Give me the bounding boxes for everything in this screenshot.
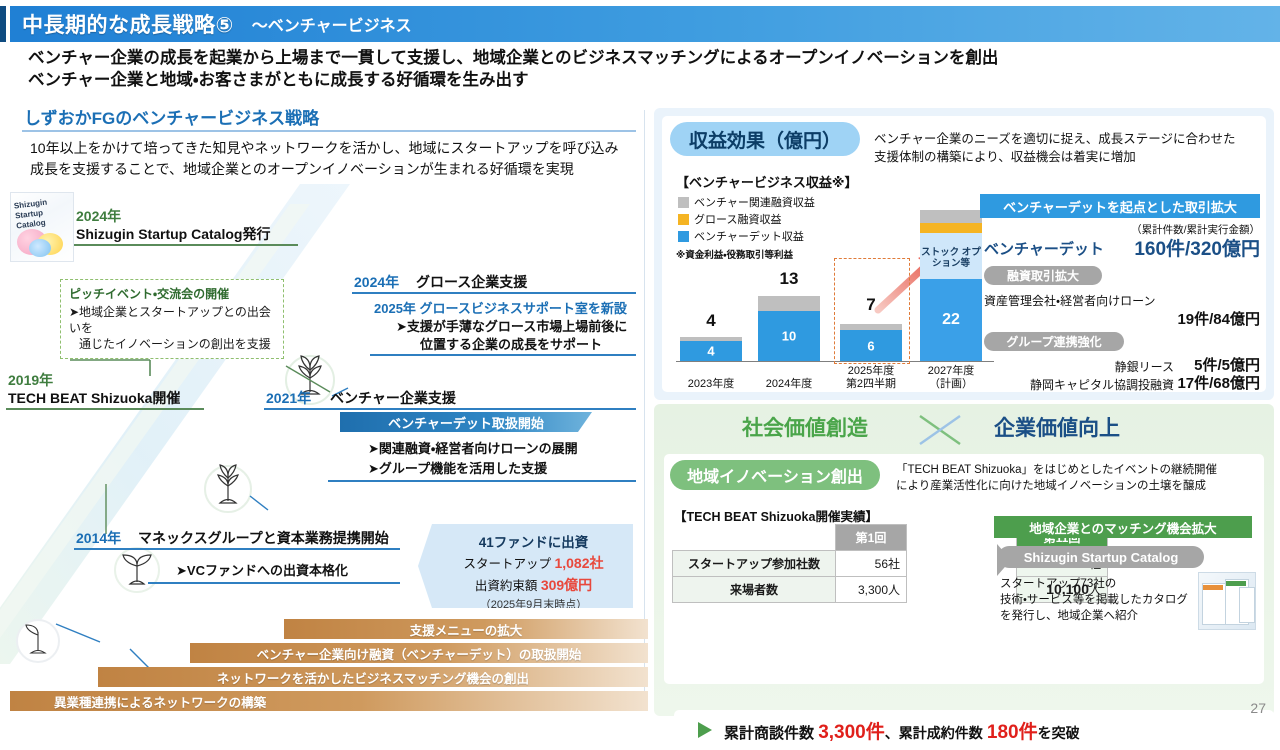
catalog-page-2-header [1226,581,1246,586]
bar-total-0: 4 [680,311,742,331]
fund-callout-row-1-value: 1,082社 [554,555,603,571]
regional-innovation-pill: 地域イノベーション創出 [670,460,880,490]
event-rule-growth [352,292,636,294]
chart-xlabel-2-line-2: 第2四半期 [840,378,902,391]
venture-debt-banner: ベンチャーデット取扱開始 [340,412,592,432]
right-column: 収益効果（億円） ベンチャー企業のニーズを適切に捉え、成長ステージに合わせた 支… [648,104,1280,720]
timeline-event-year-2019: 2019年 [8,370,53,390]
bar-seg-debt-value-0: 4 [680,344,742,359]
corporate-value-title: 企業価値向上 [994,412,1120,442]
techbeat-table-first: 第1回 スタートアップ参加社数 56社 来場者数 3,300人 [672,524,992,603]
startup-catalog-description: スタートアップ73社の 技術・サービス等を掲載したカタログ を発行し、地域企業へ… [1000,576,1196,624]
innovation-note: 「TECH BEAT Shizuoka」をはじめとしたイベントの継続開催 により… [896,462,1256,494]
revenue-effect-pill: 収益効果（億円） [670,122,860,156]
group-row-1-value: 17件/68億円 [1148,372,1260,393]
innovation-note-line-1: 「TECH BEAT Shizuoka」をはじめとしたイベントの継続開催 [896,462,1256,478]
fund-callout-row-2-label: 出資約束額 [475,579,538,593]
fund-callout-row-2: 出資約束額 309億円 [434,575,633,595]
social-value-panel-inner: 地域イノベーション創出 「TECH BEAT Shizuoka」をはじめとしたイ… [664,454,1264,684]
startup-catalog-thumbnail: Shizugin Startup Catalog [10,192,74,262]
techbeat-row-1-name: 来場者数 [673,577,836,603]
bar-seg-stock-option-3: ストック オプション等 [920,233,982,279]
page-subtitle: ～ベンチャービジネス [252,12,412,36]
startup-catalog-pill: Shizugin Startup Catalog [998,546,1204,568]
techbeat-row-0-name: スタートアップ参加社数 [673,551,836,577]
stair-item-2: ベンチャー企業向け融資（ベンチャーデット）の取扱開始 [190,643,648,663]
bar-seg-debt-3: 22 [920,279,982,361]
loan-label: 資産管理会社・経営者向けローン [984,292,1155,309]
social-value-creation-title: 社会価値創造 [742,412,868,442]
stair-item-1: 支援メニューの拡大 [284,619,648,639]
bar-seg-debt-value-1: 10 [758,329,820,344]
event-rule-catalog [74,244,298,246]
techbeat-row-1-first: 3,300人 [836,577,907,603]
triangle-bullet-icon [698,722,712,738]
chart-xlabel-2: 2025年度 第2四半期 [840,365,902,391]
revenue-note-line-2: 支援体制の構築により、収益機会は着実に増加 [874,148,1254,166]
chart-xlabel-0: 2023年度 [680,378,742,391]
fund-callout-row-1-label: スタートアップ [463,557,551,571]
chart-xlabel-3-line-2: （計画） [920,378,982,391]
bar-seg-related-3 [920,210,982,223]
bar-seg-debt-value-2: 6 [840,338,902,353]
chart-xlabel-1: 2024年度 [758,378,820,391]
group-collaboration-pill: グループ連携強化 [984,332,1124,351]
loan-expansion-pill: 融資取引拡大 [984,266,1102,285]
chart-xlabel-2-line-1: 2025年度 [840,365,902,378]
catalog-desc-line-3: を発行し、地域企業へ紹介 [1000,608,1196,624]
header-accent-bar-white [6,6,10,42]
pitch-event-line-1: ➤地域企業とスタートアップとの出会いを [69,304,275,336]
cumulative-mid: 、累計成約件数 [885,725,983,741]
bar-total-1: 13 [758,269,820,289]
cumulative-contracts-value: 180件 [987,722,1038,743]
timeline-event-year-2024-growth: 2024年 [354,272,399,292]
growth-support-line-1: ➤支援が手薄なグロース市場上場前後に [396,316,627,335]
venture-debt-label: ベンチャーデット [984,238,1104,259]
bar-seg-debt-0: 4 [680,341,742,361]
growth-support-line-2: 位置する企業の成長をサポート [420,334,602,353]
slide-header: 中長期的な成長戦略⑤ ～ベンチャービジネス [0,6,1280,42]
bar-stack-1: 10 [758,296,820,361]
revenue-panel-inner: 収益効果（億円） ベンチャー企業のニーズを適切に捉え、成長ステージに合わせた 支… [662,116,1266,392]
techbeat-col1-header: 第1回 [836,525,907,551]
bar-stack-0: 4 [680,337,742,361]
pitch-event-box: ピッチイベント・交流会の開催 ➤地域企業とスタートアップとの出会いを 通じたイノ… [60,279,284,359]
stock-option-label-text: ストック オプション等 [921,247,981,269]
bar-seg-related-1 [758,296,820,311]
timeline-event-title-2019: TECH BEAT Shizuoka開催 [8,388,180,408]
catalog-desc-line-1: スタートアップ73社の [1000,576,1196,592]
chart-xlabel-1-line-1: 2024年度 [758,378,820,391]
event-rule-growth-bottom [370,354,636,356]
bar-seg-growth-3 [920,223,982,233]
cumulative-negotiations-value: 3,300件 [818,722,885,743]
bar-seg-debt-value-3: 22 [920,311,982,329]
fund-callout-row-1: スタートアップ 1,082社 [434,553,633,573]
timeline-event-title-2024-growth: グロース企業支援 [416,272,527,292]
revenue-note: ベンチャー企業のニーズを適切に捉え、成長ステージに合わせた 支援体制の構築により… [874,130,1254,166]
matching-expansion-banner: 地域企業とのマッチング機会拡大 [994,516,1252,538]
left-column: しずおかFGのベンチャービジネス戦略 10年以上をかけて培ってきた知見やネットワ… [0,104,648,720]
event-rule-2014 [74,548,400,550]
cumulative-results-text: 累計商談件数 3,300件、累計成約件数 180件を突破 [724,717,1080,744]
page-title: 中長期的な成長戦略⑤ [22,9,234,39]
lede-line-2: ベンチャー企業と地域・お客さまがともに成長する好循環を生み出す [28,70,1268,92]
venture-debt-value: 160件/320億円 [1092,234,1260,261]
techbeat-header-blank [673,525,836,551]
timeline-event-title-2024-catalog: Shizugin Startup Catalog発行 [76,224,270,244]
bar-stack-2: 6 [840,324,902,361]
pitch-event-title: ピッチイベント・交流会の開催 [69,285,275,302]
table-row: 来場者数 3,300人 [673,577,907,603]
catalog-preview-image [1198,572,1256,630]
page-number: 27 [1250,700,1266,716]
fund-callout-title: 41ファンドに出資 [434,531,633,551]
techbeat-row-0-first: 56社 [836,551,907,577]
venture-debt-line-1: ➤関連融資・経営者向けローンの展開 [368,438,578,457]
social-value-panel: 社会価値創造 企業価値向上 地域イノベーション創出 「TECH BEAT Shi… [654,404,1274,716]
lede-line-1: ベンチャー企業の成長を起業から上場まで一貫して支援し、地域企業とのビジネスマッチ… [28,48,1268,70]
fund-investment-callout: 41ファンドに出資 スタートアップ 1,082社 出資約束額 309億円 （20… [418,524,633,608]
event-rule-2019 [6,408,204,410]
timeline-event-year-2014: 2014年 [76,528,121,548]
cumulative-prefix: 累計商談件数 [724,725,814,742]
stair-item-3: ネットワークを活かしたビジネスマッチング機会の創出 [98,667,648,687]
event-rule-2014-bottom [148,582,400,584]
timeline-event-year-2021: 2021年 [266,388,311,408]
chart-xlabel-0-line-1: 2023年度 [680,378,742,391]
techbeat-caption: 【TECH BEAT Shizuoka開催実績】 [674,506,878,525]
timeline-event-year-2024-catalog: 2024年 [76,206,121,226]
chart-xlabel-3-line-1: 2027年度 [920,365,982,378]
venture-debt-line-2: ➤グループ機能を活用した支援 [368,458,547,477]
loan-value: 19件/84億円 [1062,308,1260,329]
group-row-0-label: 静銀リース [992,358,1174,375]
cumulative-results-strip: 累計商談件数 3,300件、累計成約件数 180件を突破 [674,710,1274,750]
pitch-event-line-2: 通じたイノベーションの創出を支援 [69,336,275,352]
catalog-thumbnail-text: Shizugin Startup Catalog [13,195,74,232]
stair-item-4: 異業種連携によるネットワークの構築 [10,691,648,711]
event-rule-vd-bottom [328,480,636,482]
bar-stack-3: ストック オプション等 22 [920,210,982,361]
catalog-page-3 [1239,587,1255,623]
timeline-event-title-2021: ベンチャー企業支援 [330,388,456,408]
lede-block: ベンチャー企業の成長を起業から上場まで一貫して支援し、地域企業とのビジネスマッチ… [28,48,1268,92]
revenue-panel: 収益効果（億円） ベンチャー企業のニーズを適切に捉え、成長ステージに合わせた 支… [654,108,1274,400]
catalog-page-1-header [1203,585,1223,590]
bar-total-2: 7 [840,295,902,315]
catalog-decor-3 [29,239,51,257]
bar-seg-debt-2: 6 [840,330,902,361]
event-rule-2021 [264,408,636,410]
vc-fund-line-1: ➤VCファンドへの出資本格化 [176,560,348,579]
growth-support-headline: 2025年 グロースビジネスサポート室を新設 [374,298,627,317]
chart-xlabel-3: 2027年度 （計画） [920,365,982,391]
fund-callout-row-2-value: 309億円 [541,577,592,593]
bar-seg-debt-1: 10 [758,311,820,361]
cross-icon [912,410,968,450]
group-row-1-label: 静岡キャピタル協調投融資 [980,376,1174,393]
venture-debt-expansion-banner: ベンチャーデットを起点とした取引拡大 [980,194,1260,218]
timeline-event-title-2014: マネックスグループと資本業務提携開始 [138,528,389,548]
revenue-note-line-1: ベンチャー企業のニーズを適切に捉え、成長ステージに合わせた [874,130,1254,148]
innovation-note-line-2: により産業活性化に向けた地域イノベーションの土壌を醸成 [896,478,1256,494]
catalog-desc-line-2: 技術・サービス等を掲載したカタログ [1000,592,1196,608]
stock-option-label: ストック オプション等 [920,247,982,270]
venture-business-revenue-chart: 4 4 2023年度 13 [676,178,996,388]
table-row: スタートアップ参加社数 56社 [673,551,907,577]
cumulative-suffix: を突破 [1038,725,1080,741]
